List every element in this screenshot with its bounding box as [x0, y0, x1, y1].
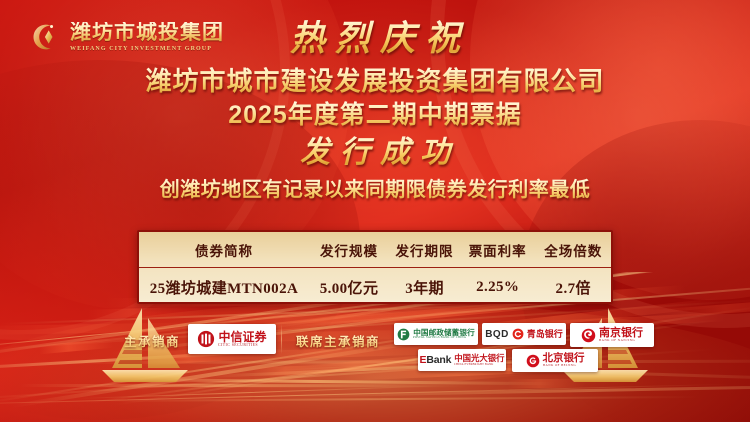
- decor-band: [649, 296, 750, 319]
- cell-issue-size: 5.00亿元: [309, 268, 389, 308]
- col-header-bid-cover: 全场倍数: [535, 232, 611, 268]
- bond-table: 债券简称 发行规模 发行期限 票面利率 全场倍数 25潍坊城建MTN002A 5…: [137, 230, 613, 304]
- light-ray: [103, 396, 698, 402]
- underwriter-logo-citic-securities: 中信证券 CITIC SECURITIES: [188, 324, 276, 354]
- citic-name-cn: 中信证券: [218, 331, 266, 343]
- cell-tenor: 3年期: [389, 268, 460, 308]
- col-header-tenor: 发行期限: [389, 232, 460, 268]
- ceb-name-en: CHINA EVERBRIGHT BANK: [454, 363, 493, 366]
- everbright-wordmark: Bank: [426, 354, 451, 366]
- nanjing-name-en: BANK OF NANJING: [599, 339, 635, 342]
- headline-company: 潍坊市城市建设发展投资集团有限公司: [0, 64, 750, 98]
- underwriter-logo-bank-of-nanjing: 南京银行 BANK OF NANJING: [570, 323, 654, 347]
- everbright-logo-icon: EBank: [420, 354, 452, 366]
- beijing-circle-icon: [526, 354, 540, 368]
- col-header-coupon-rate: 票面利率: [460, 232, 536, 268]
- underwriter-logo-postal-savings-bank: 中国邮政储蓄银行 POSTAL SAVINGS BANK OF CHINA: [394, 323, 478, 345]
- psbc-leaf-icon: [397, 328, 410, 341]
- bqd-logo-icon: [512, 328, 524, 340]
- bqd-name-cn: 青岛银行: [527, 330, 563, 339]
- col-header-bond-name: 债券简称: [139, 232, 309, 268]
- headline-block: 热烈庆祝 潍坊市城市建设发展投资集团有限公司 2025年度第二期中期票据 发行成…: [0, 18, 750, 204]
- bqd-wordmark: BQD: [485, 329, 508, 340]
- headline-success: 发行成功: [0, 134, 750, 172]
- underwriters-section: 主承销商 联席主承销商 中信证券 CITIC SECURITIES 中国邮: [0, 322, 750, 384]
- underwriter-logo-china-everbright-bank: EBank 中国光大银行 CHINA EVERBRIGHT BANK: [418, 349, 506, 371]
- headline-subtitle: 创潍坊地区有记录以来同期限债券发行利率最低: [0, 176, 750, 204]
- beijing-name-en: BANK OF BEIJING: [543, 364, 576, 367]
- headline-congrats: 热烈庆祝: [0, 18, 750, 60]
- underwriter-logo-bank-of-beijing: 北京银行 BANK OF BEIJING: [512, 349, 598, 372]
- section-divider: [281, 324, 282, 354]
- cell-coupon-rate: 2.25%: [460, 268, 536, 308]
- underwriter-logo-bank-of-qingdao: BQD 青岛银行: [482, 323, 566, 345]
- cell-bid-cover: 2.7倍: [535, 268, 611, 308]
- citic-circle-icon: [197, 330, 215, 348]
- cell-bond-name: 25潍坊城建MTN002A: [139, 268, 309, 308]
- lead-underwriter-label: 主承销商: [124, 331, 180, 350]
- col-header-issue-size: 发行规模: [309, 232, 389, 268]
- citic-name-en: CITIC SECURITIES: [218, 343, 258, 347]
- headline-issue: 2025年度第二期中期票据: [0, 99, 750, 132]
- celebration-banner: 潍坊市城投集团 WEIFANG CITY INVESTMENT GROUP 热烈…: [0, 0, 750, 422]
- table-row: 25潍坊城建MTN002A 5.00亿元 3年期 2.25% 2.7倍: [139, 268, 611, 308]
- light-ray: [20, 384, 468, 387]
- table-header-row: 债券简称 发行规模 发行期限 票面利率 全场倍数: [139, 232, 611, 268]
- nanjing-rosette-icon: [581, 328, 596, 343]
- nanjing-name-cn: 南京银行: [599, 328, 643, 339]
- psbc-name-en: POSTAL SAVINGS BANK OF CHINA: [413, 336, 466, 339]
- joint-underwriter-label: 联席主承销商: [296, 331, 380, 350]
